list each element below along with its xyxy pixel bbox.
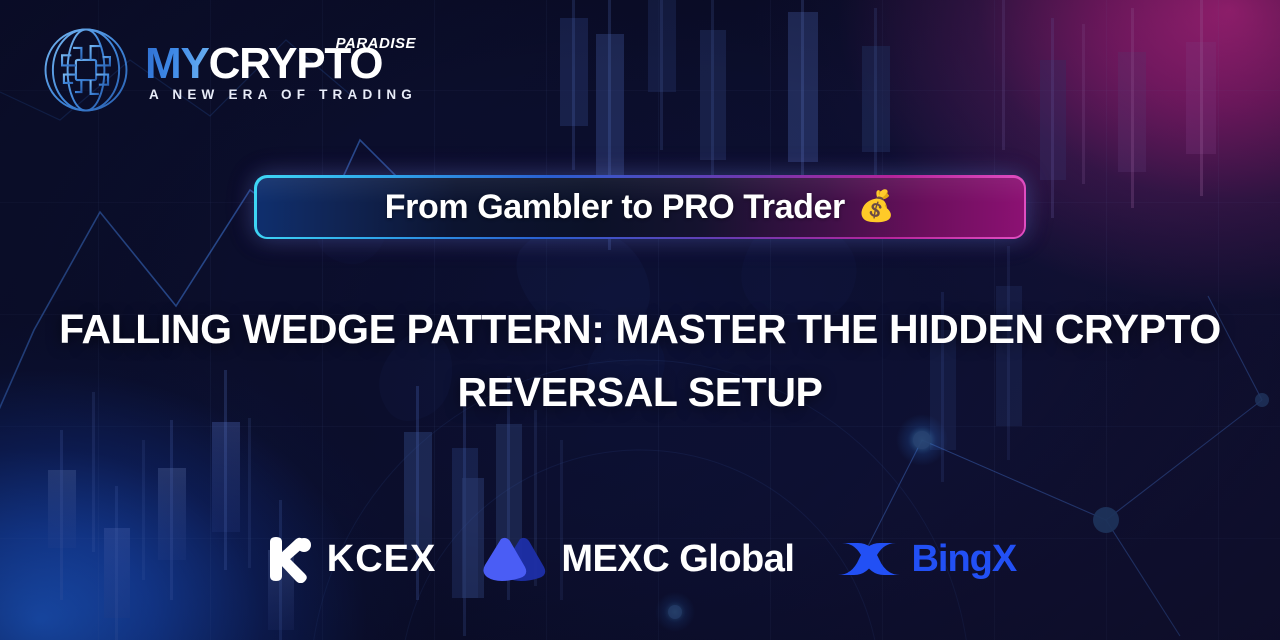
bingx-x-mark-icon — [838, 535, 900, 583]
headline-pill-badge: From Gambler to PRO Trader 💰 — [254, 175, 1026, 239]
headline-pill-text: From Gambler to PRO Trader — [385, 188, 845, 227]
partner-name-mexc: MEXC Global — [561, 538, 794, 581]
partner-logo-row: KCEX MEXC Global BingX — [0, 534, 1280, 584]
kcex-k-mark-icon — [264, 535, 316, 583]
brand-paradise-label: PARADISE — [336, 35, 416, 52]
brand-logo[interactable]: PARADISE MYCRYPTO A NEW ERA OF TRADING — [40, 24, 417, 116]
page-title: FALLING WEDGE PATTERN: MASTER THE HIDDEN… — [0, 298, 1280, 423]
brand-wordmark: PARADISE MYCRYPTO A NEW ERA OF TRADING — [145, 38, 417, 103]
globe-circuit-icon — [40, 24, 132, 116]
headline-pill-inner: From Gambler to PRO Trader 💰 — [257, 178, 1024, 237]
partner-logo-mexc[interactable]: MEXC Global — [480, 534, 794, 584]
partner-name-kcex: KCEX — [327, 538, 437, 581]
partner-logo-kcex[interactable]: KCEX — [264, 535, 437, 583]
mexc-triangles-mark-icon — [480, 534, 550, 584]
brand-name-my: MY — [145, 39, 209, 88]
partner-logo-bingx[interactable]: BingX — [838, 535, 1016, 583]
brand-tagline: A NEW ERA OF TRADING — [145, 87, 417, 102]
network-nodes — [655, 393, 1269, 632]
promo-banner: PARADISE MYCRYPTO A NEW ERA OF TRADING F… — [0, 0, 1280, 640]
partner-name-bingx: BingX — [911, 538, 1016, 581]
money-bag-emoji: 💰 — [858, 192, 895, 222]
